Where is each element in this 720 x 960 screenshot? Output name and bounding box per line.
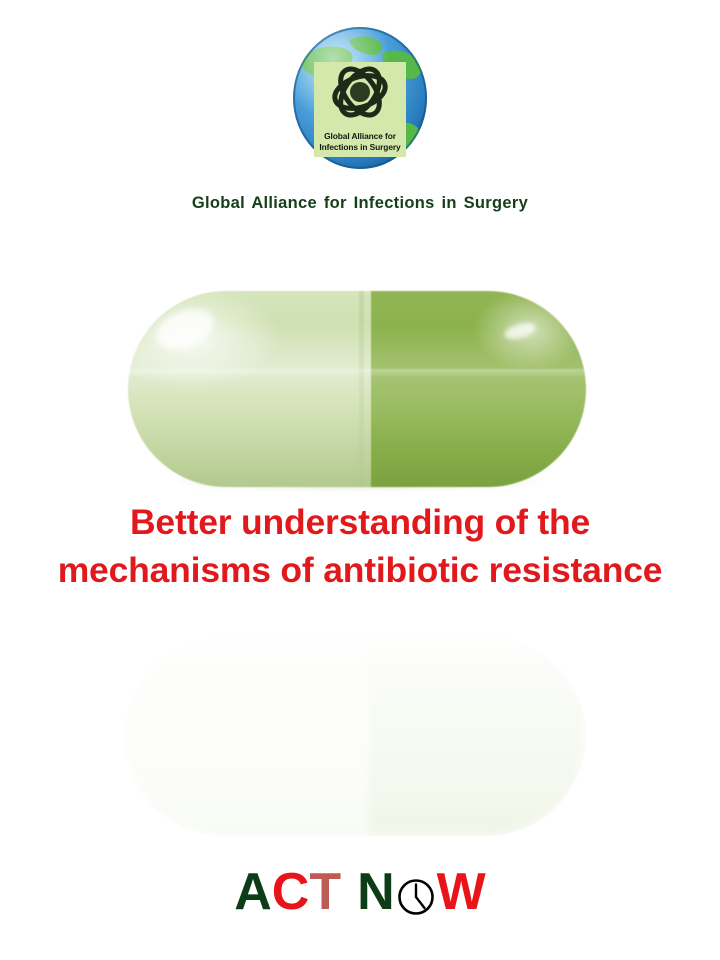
pill-seam [359, 291, 364, 487]
act-now-letter-a: A [234, 866, 272, 918]
act-now-letter-n: N [357, 866, 395, 918]
act-now-letter-c: C [272, 866, 310, 918]
logo-card-text-line1: Global Alliance for [314, 131, 406, 142]
logo-card-text-line2: Infections in Surgery [314, 142, 406, 153]
pill-dark-half [371, 291, 586, 487]
clock-icon [396, 874, 436, 914]
reflection-dark-half [369, 636, 586, 836]
pill-highlight-band [128, 369, 586, 378]
page-title: Better understanding of the mechanisms o… [0, 498, 720, 594]
act-now-logo: A C T N W [0, 866, 720, 918]
logo-block: Global Alliance for Infections in Surger… [0, 22, 720, 174]
act-now-letter-w: W [437, 866, 486, 918]
interlocking-rings-icon [328, 65, 392, 121]
logo-name-card: Global Alliance for Infections in Surger… [314, 62, 406, 157]
act-now-letter-t: T [309, 866, 341, 918]
headline-line-1: Better understanding of the [0, 498, 720, 546]
headline-line-2: mechanisms of antibiotic resistance [0, 546, 720, 594]
reflection-light-half [124, 636, 369, 836]
poster-canvas: Global Alliance for Infections in Surger… [0, 0, 720, 960]
organisation-name: Global Alliance for Infections in Surger… [0, 194, 720, 213]
global-alliance-logo: Global Alliance for Infections in Surger… [289, 22, 431, 174]
logo-card-text: Global Alliance for Infections in Surger… [314, 131, 406, 152]
green-capsule-pill-photo [128, 291, 586, 487]
pill-reflection [124, 636, 586, 836]
act-now-lettering: A C T N W [234, 866, 486, 918]
